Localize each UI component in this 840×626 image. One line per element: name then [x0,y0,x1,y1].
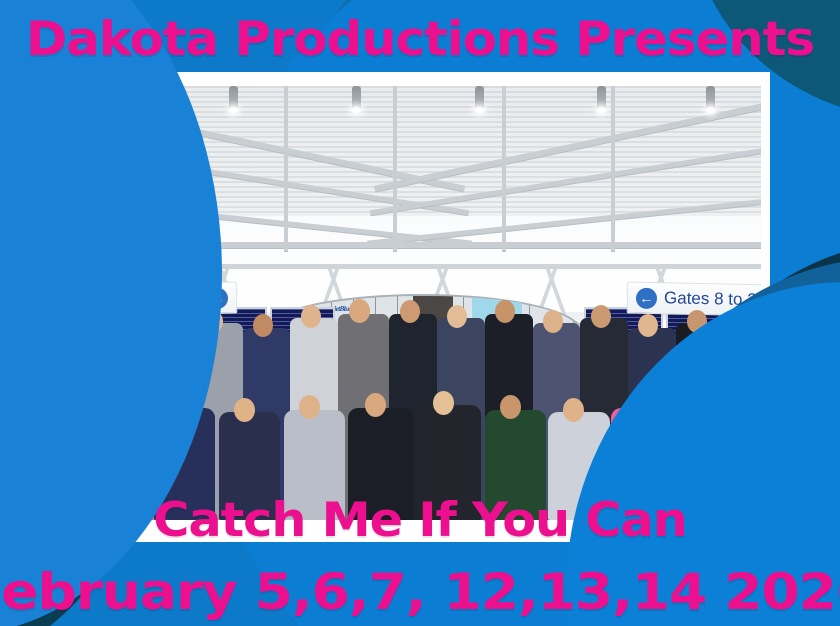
cast-member-head [495,300,515,323]
cast-member-head [365,393,386,417]
performance-dates: February 5,6,7, 12,13,14 2026 [0,567,840,617]
cast-member-head [447,305,467,328]
pendant-light-icon [352,86,361,110]
cast-member-head [500,395,521,419]
presenter-title: Dakota Productions Presents [0,16,840,63]
ceiling-purlin [611,86,615,251]
ceiling-purlin [502,86,506,251]
cast-member-head [591,305,611,328]
cast-member-head [543,310,563,333]
show-title: Catch Me If You Can [0,497,840,544]
pendant-light-icon [475,86,484,110]
cast-member-head [563,398,584,422]
cast-member-head [234,398,255,422]
pendant-light-icon [597,86,606,110]
cast-member-head [301,305,321,328]
theatre-poster: jetBlue Gates 8 to 21 → ← Gates 8 to 21 [0,0,840,626]
cast-member-head [400,300,420,323]
ceiling-purlin [284,86,288,251]
pendant-light-icon [706,86,715,110]
ceiling-purlin [393,86,397,251]
pendant-light-icon [229,86,238,110]
cast-member-head [433,391,454,415]
cast-member-head [253,314,273,337]
cast-member-head [299,395,320,419]
